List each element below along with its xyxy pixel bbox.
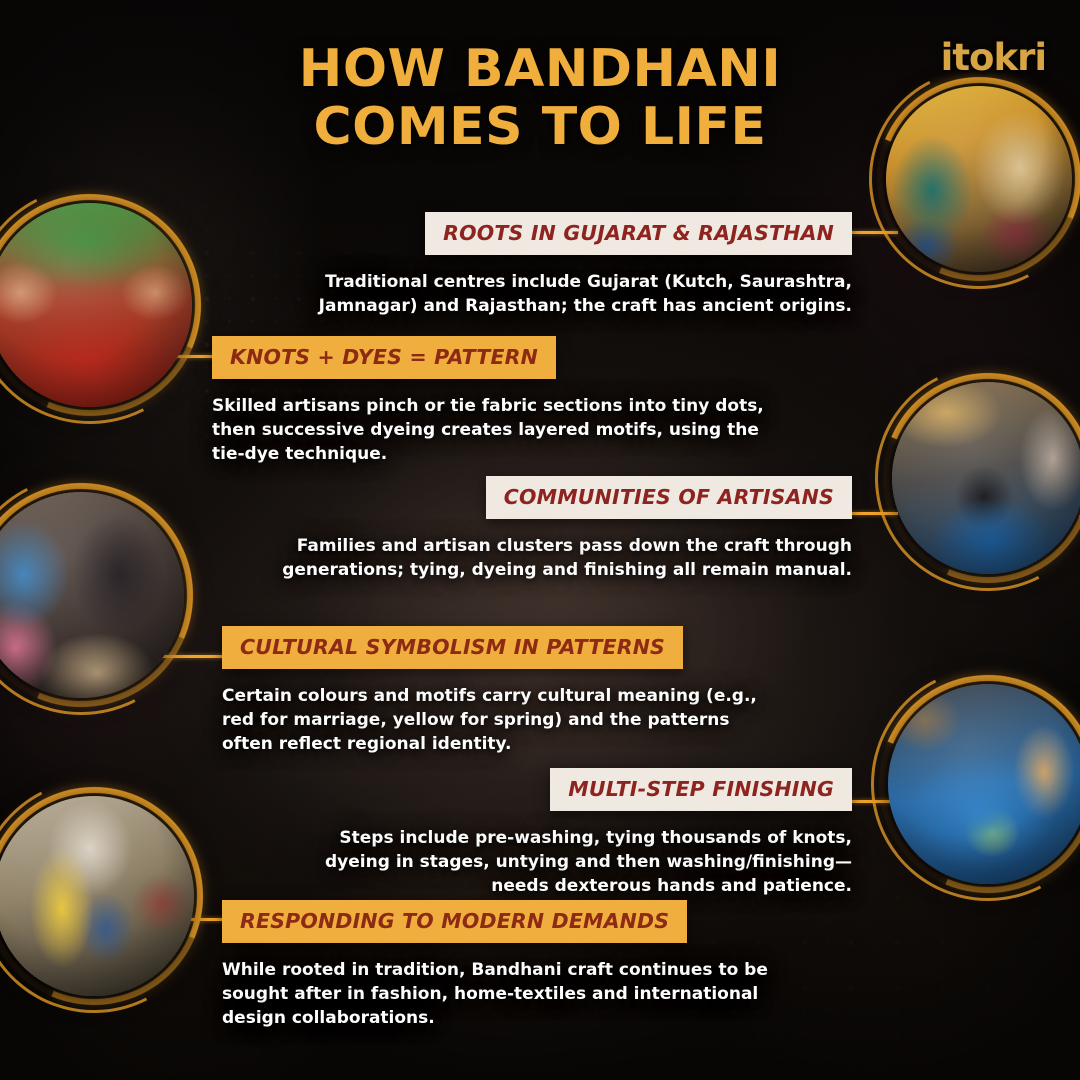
section-modern: RESPONDING TO MODERN DEMANDS While roote…	[222, 900, 798, 1030]
section-knots-body: Skilled artisans pinch or tie fabric sec…	[212, 395, 772, 466]
section-communities-body: Families and artisan clusters pass down …	[230, 535, 852, 583]
section-symbolism: CULTURAL SYMBOLISM IN PATTERNS Certain c…	[222, 626, 782, 756]
section-knots-heading[interactable]: KNOTS + DYES = PATTERN	[212, 336, 556, 379]
photo-dyer-blue	[892, 382, 1080, 574]
section-modern-body: While rooted in tradition, Bandhani craf…	[222, 959, 798, 1030]
photo-disc	[892, 382, 1080, 574]
section-finishing-body: Steps include pre-washing, tying thousan…	[300, 827, 852, 898]
photo-disc	[0, 492, 184, 698]
section-modern-heading-row: RESPONDING TO MODERN DEMANDS	[222, 900, 798, 943]
section-knots: KNOTS + DYES = PATTERN Skilled artisans …	[212, 336, 772, 466]
photo-vat-blue	[888, 684, 1080, 884]
section-finishing: MULTI-STEP FINISHING Steps include pre-w…	[300, 768, 852, 898]
section-communities-heading[interactable]: COMMUNITIES OF ARTISANS	[486, 476, 852, 519]
photo-woman-shawl	[0, 492, 184, 698]
photo-disc	[0, 203, 192, 407]
page-title: HOW BANDHANI COMES TO LIFE	[0, 40, 1080, 156]
section-roots: ROOTS IN GUJARAT & RAJASTHAN Traditional…	[256, 212, 852, 319]
section-roots-heading-row: ROOTS IN GUJARAT & RAJASTHAN	[256, 212, 852, 255]
section-symbolism-body: Certain colours and motifs carry cultura…	[222, 685, 782, 756]
itokri-logo[interactable]: itokri	[941, 36, 1046, 79]
section-communities: COMMUNITIES OF ARTISANS Families and art…	[230, 476, 852, 583]
photo-shade	[0, 203, 192, 407]
photo-shade	[888, 684, 1080, 884]
page-title-line-2: COMES TO LIFE	[0, 98, 1080, 156]
photo-hands-red	[0, 203, 192, 407]
photo-shade	[0, 492, 184, 698]
photo-shade	[0, 796, 194, 996]
photo-disc	[0, 796, 194, 996]
section-finishing-heading[interactable]: MULTI-STEP FINISHING	[550, 768, 852, 811]
infographic-poster: itokri HOW BANDHANI COMES TO LIFE	[0, 0, 1080, 1080]
section-modern-heading[interactable]: RESPONDING TO MODERN DEMANDS	[222, 900, 687, 943]
section-knots-heading-row: KNOTS + DYES = PATTERN	[212, 336, 772, 379]
photo-yellow-lift	[0, 796, 194, 996]
page-title-line-1: HOW BANDHANI	[0, 40, 1080, 98]
section-finishing-heading-row: MULTI-STEP FINISHING	[300, 768, 852, 811]
section-symbolism-heading[interactable]: CULTURAL SYMBOLISM IN PATTERNS	[222, 626, 683, 669]
section-communities-heading-row: COMMUNITIES OF ARTISANS	[230, 476, 852, 519]
section-roots-body: Traditional centres include Gujarat (Kut…	[256, 271, 852, 319]
photo-disc	[888, 684, 1080, 884]
photo-shade	[892, 382, 1080, 574]
section-symbolism-heading-row: CULTURAL SYMBOLISM IN PATTERNS	[222, 626, 782, 669]
section-roots-heading[interactable]: ROOTS IN GUJARAT & RAJASTHAN	[425, 212, 852, 255]
